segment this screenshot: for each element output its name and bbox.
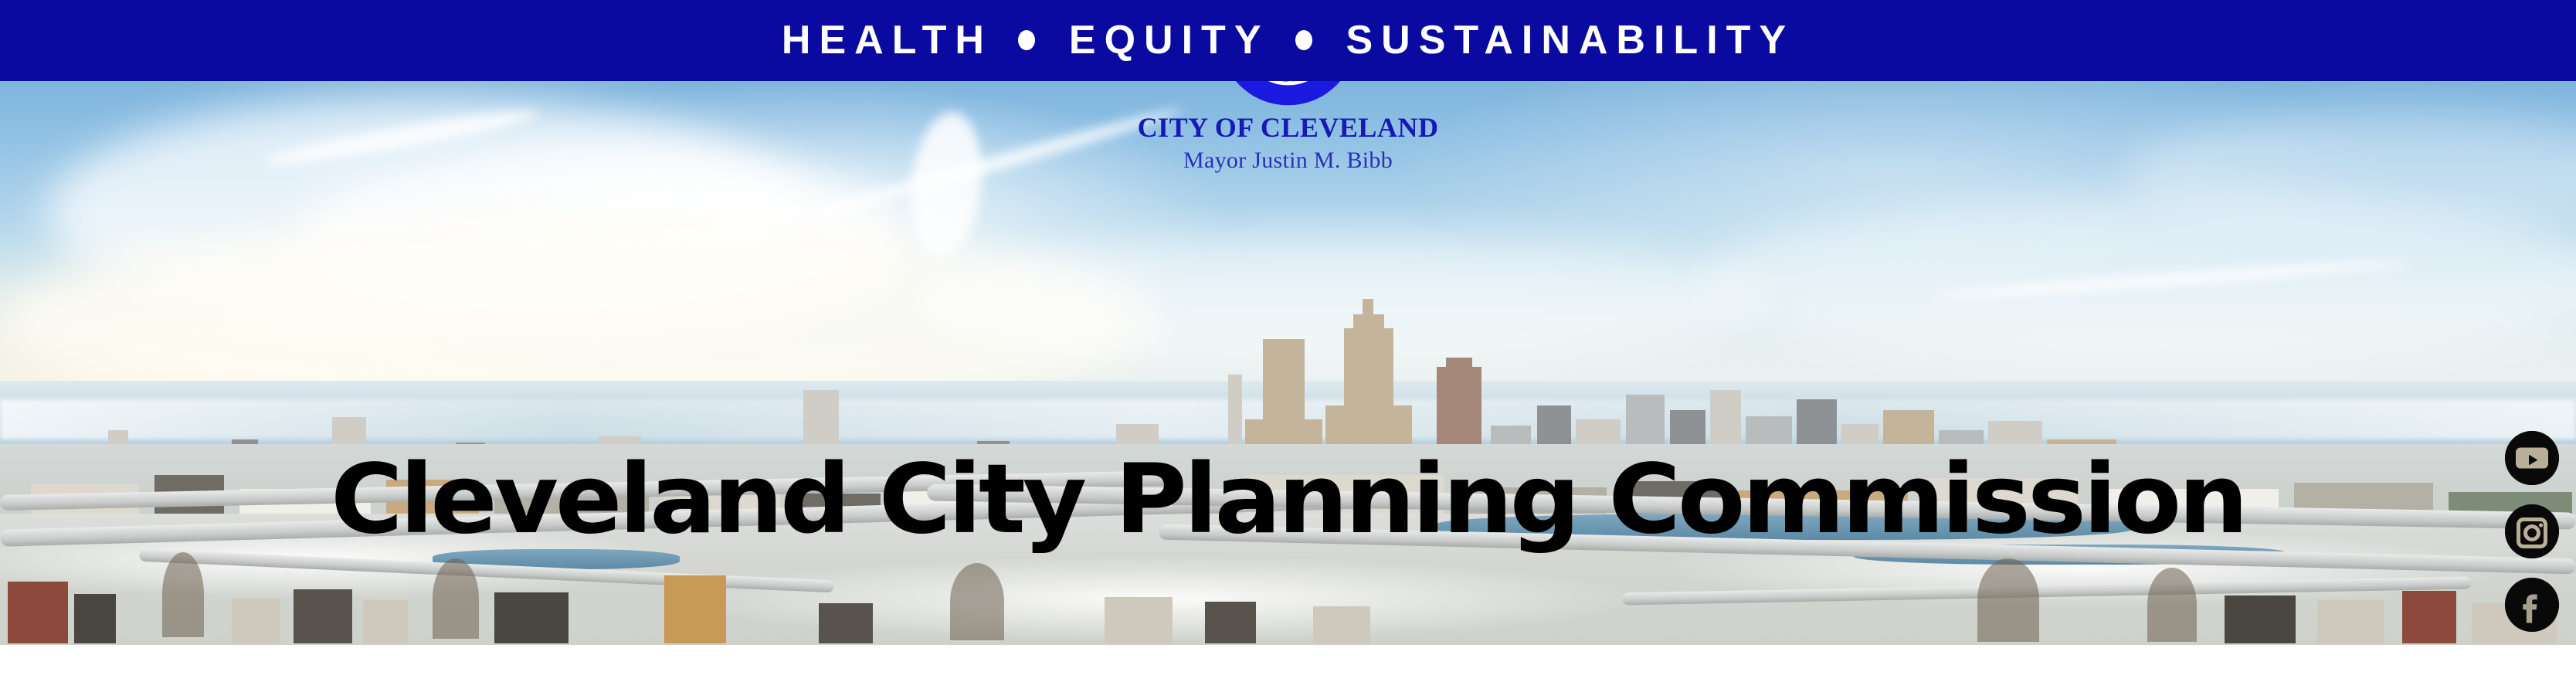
page-title: Cleveland City Planning Commission [0, 452, 2576, 548]
foreground-building [1313, 606, 1370, 643]
bare-tree [162, 552, 204, 637]
tagline-word-health: HEALTH [782, 20, 993, 60]
bare-tree [2147, 568, 2197, 642]
foreground-building [363, 600, 408, 643]
foreground-building [1105, 597, 1173, 643]
foreground-building [494, 592, 568, 643]
foreground-building [232, 599, 280, 643]
foreground-building [74, 594, 116, 643]
mayor-name-label: Mayor Justin M. Bibb [1183, 149, 1393, 172]
bare-tree [1977, 558, 2039, 642]
foreground-building [2317, 600, 2384, 643]
bare-tree [433, 558, 479, 639]
tagline-text: HEALTH EQUITY SUSTAINABILITY [782, 20, 1794, 60]
foreground-building [664, 575, 726, 643]
instagram-icon[interactable] [2505, 504, 2559, 558]
foreground-building [294, 589, 352, 643]
bullet-dot-icon-1 [1018, 30, 1035, 50]
social-links [2505, 431, 2559, 632]
city-name-wordmark: CITY OF CLEVELAND [1138, 114, 1439, 141]
tagline-word-equity: EQUITY [1069, 20, 1270, 60]
foreground-building [819, 603, 873, 643]
bare-tree [950, 563, 1004, 640]
tagline-banner: HEALTH EQUITY SUSTAINABILITY [0, 0, 2576, 81]
foreground-building [2225, 595, 2296, 643]
facebook-icon[interactable] [2505, 578, 2559, 632]
bullet-dot-icon-2 [1295, 30, 1312, 50]
footer-white-strip [0, 645, 2576, 682]
tagline-word-sustainability: SUSTAINABILITY [1346, 20, 1795, 60]
youtube-icon[interactable] [2505, 431, 2559, 485]
foreground-building [1205, 602, 1256, 643]
foreground-building [8, 582, 68, 643]
foreground-building [2402, 591, 2456, 643]
